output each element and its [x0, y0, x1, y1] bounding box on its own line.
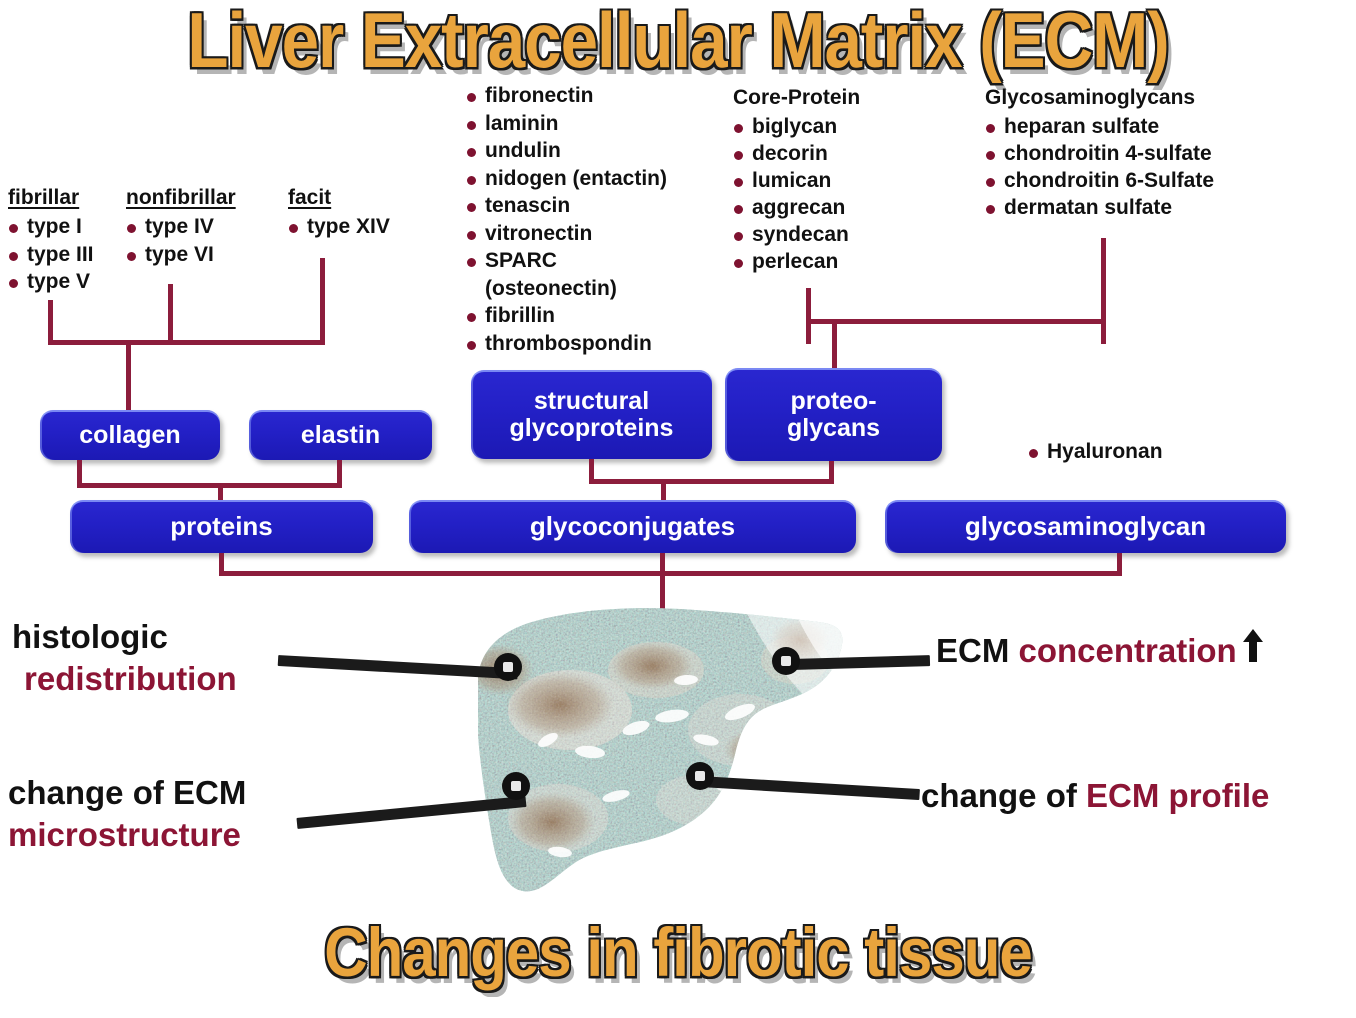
column-items: type I type III type V [8, 213, 94, 296]
connector-proteoglycan-drop [832, 319, 837, 372]
connector-nonfibrillar-stem [168, 284, 173, 344]
callout-prefix: change of [921, 777, 1086, 814]
list-item: lumican [733, 167, 860, 194]
connector-fibrillar-stem [48, 300, 53, 344]
list-item: type VI [126, 241, 236, 269]
box-label: collagen [79, 422, 180, 449]
connector-collagen-bar [48, 340, 325, 345]
list-item: laminin [466, 110, 667, 138]
column-heading: facit [288, 186, 390, 210]
pointer-dot-profile [686, 762, 714, 790]
liver-histology-figure [440, 600, 860, 900]
connector-bottom-bar [219, 571, 1122, 576]
box-elastin[interactable]: elastin [249, 410, 432, 460]
box-glycoconjugates[interactable]: glycoconjugates [409, 500, 856, 553]
callout-line2: redistribution [12, 658, 237, 700]
box-label: elastin [301, 422, 380, 449]
box-label: proteins [170, 513, 273, 541]
connector-collagen-drop [126, 340, 131, 410]
callout-line2: microstructure [8, 814, 246, 856]
list-item: dermatan sulfate [985, 194, 1214, 221]
liver-tissue-texture [440, 600, 860, 900]
pointer-dot-microstructure [502, 772, 530, 800]
column-heading: nonfibrillar [126, 186, 236, 210]
box-structural-glycoproteins[interactable]: structural glycoproteins [471, 370, 712, 459]
list-item: type V [8, 268, 94, 296]
callout-accent: concentration [1019, 632, 1237, 669]
callout-prefix: ECM [936, 632, 1019, 669]
page-title-bottom: Changes in fibrotic tissue [0, 913, 1356, 992]
list-item: undulin [466, 137, 667, 165]
connector-gag-stem [1101, 238, 1106, 344]
list-item: heparan sulfate [985, 113, 1214, 140]
list-item: fibronectin [466, 82, 667, 110]
list-item: decorin [733, 140, 860, 167]
increase-arrow-icon [1241, 628, 1265, 674]
list-item-continuation: (osteonectin) [466, 275, 667, 303]
glycoprotein-items: fibronectin laminin undulin nidogen (ent… [466, 82, 667, 357]
pointer-dot-concentration [772, 647, 800, 675]
callout-ecm-concentration: ECM concentration [936, 628, 1265, 674]
column-items: type IV type VI [126, 213, 236, 268]
box-label: glycosaminoglycan [965, 513, 1206, 541]
callout-histologic-redistribution: histologic redistribution [12, 616, 237, 700]
column-items: type XIV [288, 213, 390, 241]
list-item: biglycan [733, 113, 860, 140]
box-proteins[interactable]: proteins [70, 500, 373, 553]
ecm-diagram-canvas: Liver Extracellular Matrix (ECM) fibrone… [0, 0, 1356, 1018]
list-item: chondroitin 4-sulfate [985, 140, 1214, 167]
core-protein-list: Core-Protein biglycan decorin lumican ag… [733, 86, 860, 275]
box-glycosaminoglycan[interactable]: glycosaminoglycan [885, 500, 1286, 553]
connector-facit-stem [320, 258, 325, 344]
hyaluronan-note: Hyaluronan [1028, 438, 1163, 466]
glycosaminoglycan-list: Glycosaminoglycans heparan sulfate chond… [985, 86, 1214, 221]
list-item: type III [8, 241, 94, 269]
box-label: glycoconjugates [530, 513, 735, 541]
collagen-column-facit: facit type XIV [288, 186, 390, 241]
callout-line1: change of ECM [8, 772, 246, 814]
box-label-line2: glycoproteins [510, 415, 674, 442]
gag-heading: Glycosaminoglycans [985, 86, 1214, 110]
collagen-column-fibrillar: fibrillar type I type III type V [8, 186, 94, 296]
list-item: SPARC [466, 247, 667, 275]
callout-line1: histologic [12, 616, 237, 658]
list-item: syndecan [733, 221, 860, 248]
list-item: fibrillin [466, 302, 667, 330]
page-title-top: Liver Extracellular Matrix (ECM) [0, 0, 1356, 85]
pointer-dot-histologic [494, 653, 522, 681]
list-item: thrombospondin [466, 330, 667, 358]
callout-change-of-ecm-profile: change of ECM profile [921, 775, 1269, 817]
list-item: type IV [126, 213, 236, 241]
connector-proteoglycan-bar [806, 319, 1106, 324]
hyaluronan-items: Hyaluronan [1028, 438, 1163, 466]
core-protein-heading: Core-Protein [733, 86, 860, 110]
structural-glycoprotein-list: fibronectin laminin undulin nidogen (ent… [466, 82, 667, 357]
list-item: perlecan [733, 248, 860, 275]
connector-proteins-bar [77, 483, 342, 488]
box-collagen[interactable]: collagen [40, 410, 220, 460]
callout-accent: ECM profile [1086, 777, 1269, 814]
list-item: tenascin [466, 192, 667, 220]
list-item: Hyaluronan [1028, 438, 1163, 466]
connector-glycoconjugates-bar [589, 479, 834, 484]
list-item: type I [8, 213, 94, 241]
box-label-line1: structural [534, 388, 649, 415]
list-item: vitronectin [466, 220, 667, 248]
list-item: nidogen (entactin) [466, 165, 667, 193]
box-proteoglycans[interactable]: proteo- glycans [725, 368, 942, 461]
box-label-line2: glycans [787, 415, 880, 442]
list-item: chondroitin 6-Sulfate [985, 167, 1214, 194]
column-heading: fibrillar [8, 186, 94, 210]
collagen-column-nonfibrillar: nonfibrillar type IV type VI [126, 186, 236, 268]
connector-coreprotein-stem [806, 288, 811, 344]
gag-items: heparan sulfate chondroitin 4-sulfate ch… [985, 113, 1214, 221]
list-item: aggrecan [733, 194, 860, 221]
callout-change-of-ecm-microstructure: change of ECM microstructure [8, 772, 246, 856]
core-protein-items: biglycan decorin lumican aggrecan syndec… [733, 113, 860, 275]
box-label-line1: proteo- [790, 388, 876, 415]
list-item: type XIV [288, 213, 390, 241]
